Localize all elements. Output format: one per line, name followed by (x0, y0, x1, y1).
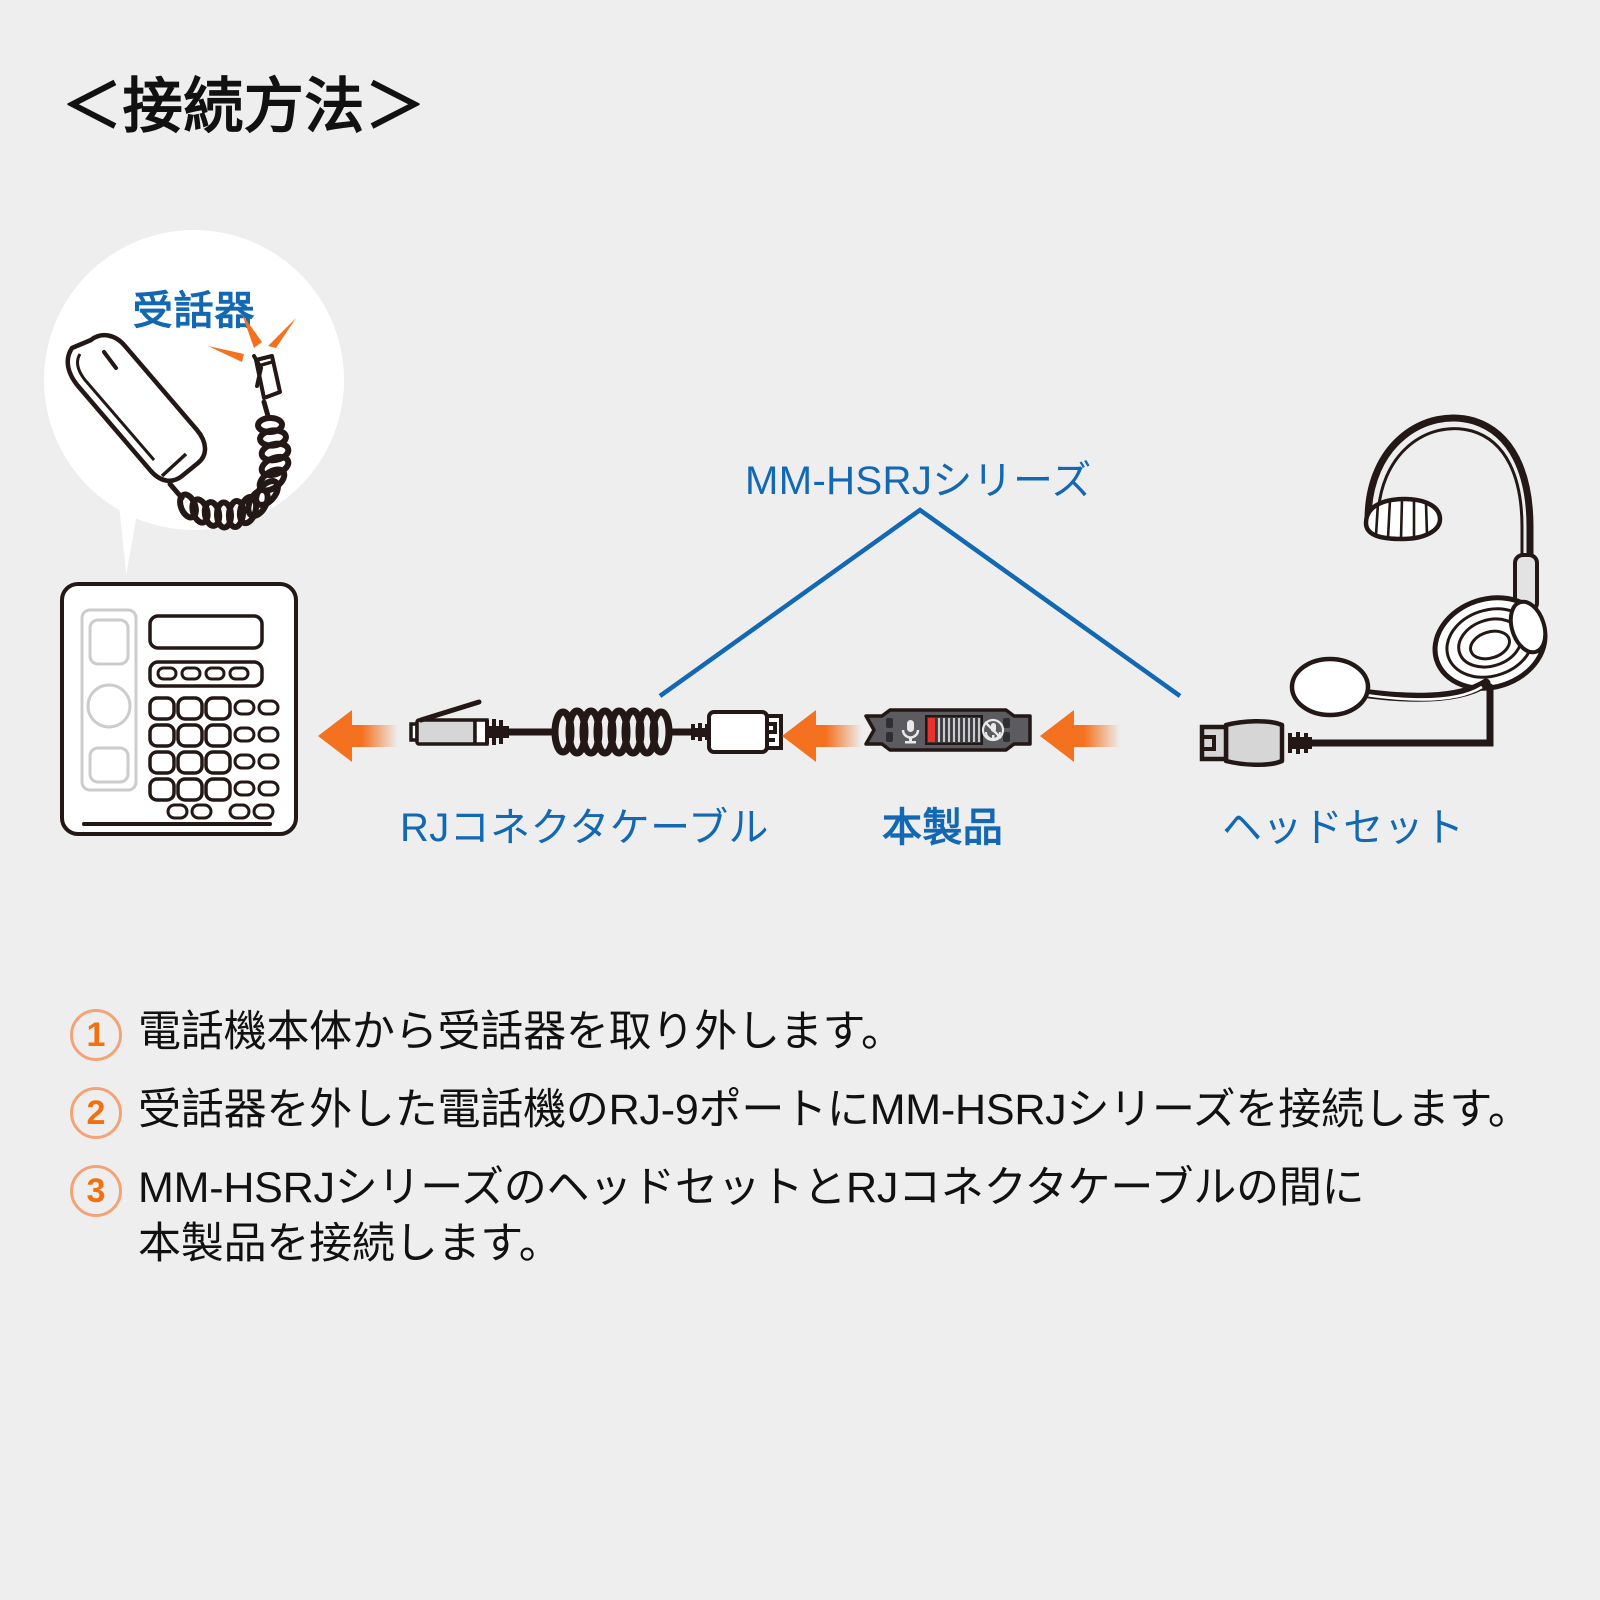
pointer-lines (640, 500, 1200, 700)
steps-list: 1 電話機本体から受話器を取り外します。 2 受話器を外した電話機のRJ-9ポー… (70, 1005, 1570, 1273)
step-text-2: 受話器を外した電話機のRJ-9ポートにMM-HSRJシリーズを接続します。 (138, 1083, 1531, 1139)
pointer-label: MM-HSRJシリーズ (745, 448, 1092, 506)
caption-rj-connector-cable: RJコネクタケーブル (400, 795, 769, 853)
connection-method-diagram-page: ＜接続方法＞ 受話器 (0, 0, 1600, 1600)
disconnect-spark-icon (208, 314, 296, 362)
step-text-3: MM-HSRJシリーズのヘッドセットとRJコネクタケーブルの間に 本製品を接続し… (138, 1161, 1364, 1273)
step-number-1: 1 (70, 1009, 122, 1061)
arrow-to-cable (782, 708, 862, 764)
step-number-2: 2 (70, 1087, 122, 1139)
caption-headset: ヘッドセット (1222, 795, 1464, 853)
list-item: 2 受話器を外した電話機のRJ-9ポートにMM-HSRJシリーズを接続します。 (70, 1083, 1570, 1139)
list-item: 3 MM-HSRJシリーズのヘッドセットとRJコネクタケーブルの間に 本製品を接… (70, 1161, 1570, 1273)
inline-volume-mute-control-icon (862, 698, 1034, 762)
coiled-rj-cable-icon (395, 690, 785, 770)
volume-slider-icon (926, 716, 982, 744)
list-item: 1 電話機本体から受話器を取り外します。 (70, 1005, 1570, 1061)
step-text-1: 電話機本体から受話器を取り外します。 (138, 1005, 904, 1061)
page-title: ＜接続方法＞ (62, 58, 426, 145)
mono-headset-with-boom-mic-icon (1190, 395, 1550, 795)
handset-callout: 受話器 (44, 230, 364, 590)
arrow-to-device (1040, 708, 1120, 764)
diagram-area: 受話器 (0, 170, 1600, 930)
desk-telephone-icon (58, 580, 308, 845)
caption-this-product: 本製品 (882, 795, 1003, 853)
step-number-3: 3 (70, 1165, 122, 1217)
arrow-to-phone (318, 708, 398, 764)
handset-with-coiled-cord-icon (58, 308, 330, 538)
